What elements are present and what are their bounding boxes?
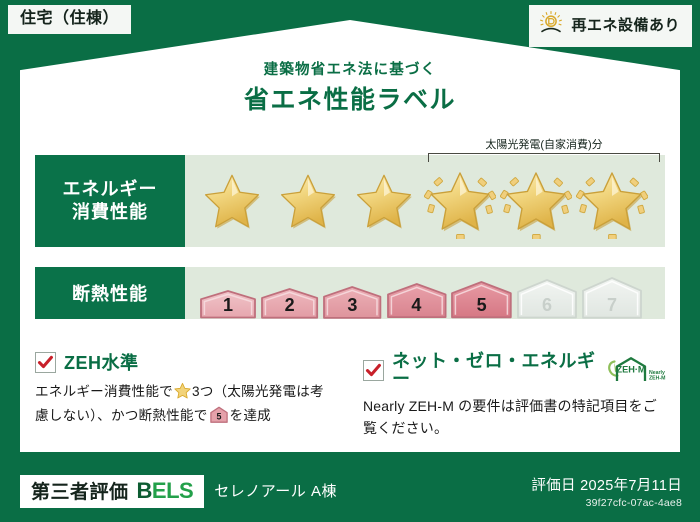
insulation-grade-number: 6 bbox=[516, 296, 578, 314]
insulation-grade-1: 1 bbox=[199, 289, 257, 319]
criteria-zeh: ZEH水準 エネルギー消費性能で3つ（太陽光発電は考慮しない）、かつ断熱性能で5… bbox=[35, 352, 335, 429]
insulation-grade-4: 4 bbox=[386, 282, 448, 319]
svg-text:ZEH-M: ZEH-M bbox=[649, 375, 665, 381]
criteria-zeh-text-1: エネルギー消費性能で bbox=[35, 384, 173, 399]
star-rating bbox=[185, 161, 665, 241]
star-solar-icon bbox=[499, 161, 573, 241]
evaluation-id: 39f27cfc-07ac-4ae8 bbox=[531, 497, 682, 510]
building-type-tag: 住宅（住棟） bbox=[8, 5, 131, 34]
renewable-badge-label: 再エネ設備あり bbox=[571, 18, 680, 33]
insulation-grade-7: 7 bbox=[581, 276, 643, 319]
energy-performance-label: 住宅（住棟） 再エネ設備あり bbox=[0, 0, 700, 522]
energy-label-line2: 消費性能 bbox=[72, 201, 148, 224]
footer-right: 評価日 2025年7月11日 39f27cfc-07ac-4ae8 bbox=[531, 478, 682, 510]
renewable-energy-badge: 再エネ設備あり bbox=[529, 5, 692, 47]
title-block: 建築物省エネ法に基づく 省エネ性能ラベル bbox=[0, 62, 700, 115]
solar-sun-icon bbox=[538, 10, 564, 41]
zeh-m-logo: ZEH·M Nearly ZEH-M bbox=[606, 355, 668, 385]
star-icon bbox=[347, 161, 421, 241]
evaluation-date: 評価日 2025年7月11日 bbox=[531, 478, 682, 495]
checkbox-checked-icon bbox=[35, 352, 56, 373]
insulation-performance-label-box: 断熱性能 bbox=[35, 267, 185, 319]
criteria-zeh-body: エネルギー消費性能で3つ（太陽光発電は考慮しない）、かつ断熱性能で5を達成 bbox=[35, 381, 335, 429]
svg-text:5: 5 bbox=[216, 412, 221, 422]
bels-logo-b: B bbox=[137, 478, 152, 503]
bels-logo-els: ELS bbox=[152, 478, 193, 503]
criteria-zeh-text-3: を達成 bbox=[230, 408, 271, 423]
star-solar-icon bbox=[423, 161, 497, 241]
insulation-grade-number: 3 bbox=[322, 296, 382, 314]
property-name: セレノアール A棟 bbox=[214, 484, 337, 499]
star-icon bbox=[271, 161, 345, 241]
criteria-zeh-title: ZEH水準 bbox=[64, 354, 139, 372]
insulation-grade-number: 4 bbox=[386, 296, 448, 314]
criteria-net-zero-title: ネット・ゼロ・エネルギー bbox=[392, 352, 596, 388]
insulation-grade-number: 1 bbox=[199, 296, 257, 314]
svg-text:ZEH·M: ZEH·M bbox=[616, 364, 645, 374]
star-solar-icon bbox=[575, 161, 649, 241]
insulation-performance-body: 1 2 3 bbox=[185, 267, 665, 319]
energy-performance-label-box: エネルギー 消費性能 bbox=[35, 155, 185, 247]
footer-left: 第三者評価 BELS セレノアール A棟 bbox=[20, 475, 337, 508]
criteria-zeh-header: ZEH水準 bbox=[35, 352, 335, 373]
criteria-net-zero-header: ネット・ゼロ・エネルギー ZEH·M Nearly ZEH-M bbox=[363, 352, 668, 388]
criteria-net-zero: ネット・ゼロ・エネルギー ZEH·M Nearly ZEH-M Nearly Z… bbox=[363, 352, 668, 439]
insulation-performance-row: 断熱性能 1 2 bbox=[35, 267, 665, 319]
criteria-net-zero-body: Nearly ZEH-M の要件は評価書の特記項目をご覧ください。 bbox=[363, 396, 668, 439]
energy-performance-row: エネルギー 消費性能 太陽光発電(自家消費)分 bbox=[35, 155, 665, 247]
bels-logo: BELS bbox=[137, 480, 194, 502]
energy-label-line1: エネルギー bbox=[63, 178, 158, 201]
insulation-grade-scale: 1 2 3 bbox=[185, 267, 643, 319]
inline-star-icon bbox=[174, 382, 191, 405]
insulation-grade-number: 7 bbox=[581, 296, 643, 314]
insulation-grade-number: 2 bbox=[260, 296, 319, 314]
insulation-grade-2: 2 bbox=[260, 287, 319, 319]
insulation-grade-number: 5 bbox=[450, 296, 513, 314]
insulation-label: 断熱性能 bbox=[72, 280, 148, 306]
third-party-evaluation-label: 第三者評価 bbox=[31, 483, 129, 502]
label-main-title: 省エネ性能ラベル bbox=[0, 86, 700, 115]
bels-badge: 第三者評価 BELS bbox=[20, 475, 204, 508]
insulation-grade-3: 3 bbox=[322, 285, 382, 319]
label-subtitle: 建築物省エネ法に基づく bbox=[0, 62, 700, 79]
building-type-label: 住宅（住棟） bbox=[20, 10, 119, 27]
insulation-grade-5: 5 bbox=[450, 280, 513, 319]
star-icon bbox=[195, 161, 269, 241]
checkbox-checked-icon bbox=[363, 360, 384, 381]
insulation-grade-6: 6 bbox=[516, 278, 578, 319]
energy-performance-body: 太陽光発電(自家消費)分 bbox=[185, 155, 665, 247]
inline-grade-badge: 5 bbox=[209, 406, 229, 429]
